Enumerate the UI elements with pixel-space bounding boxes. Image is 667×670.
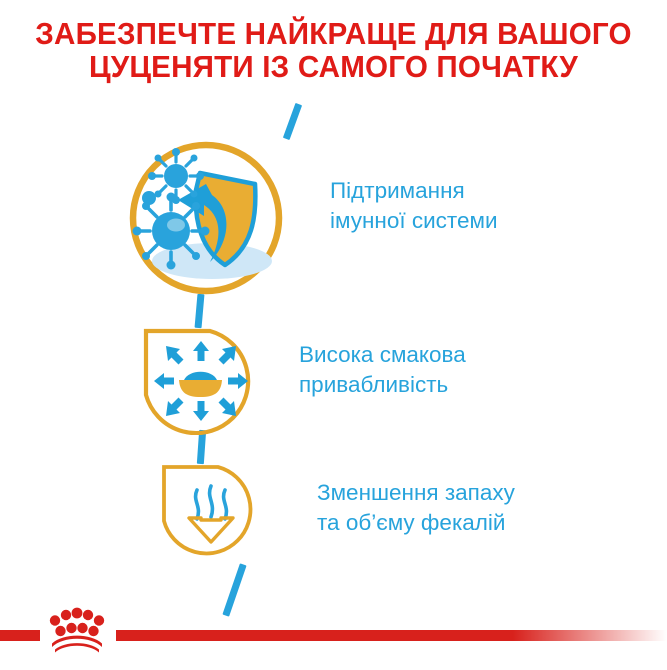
footer-bar-right-segment [116, 630, 667, 641]
connector-dash-feature1-feature2 [195, 294, 205, 328]
feature-2-line-1: Висока смакова [299, 340, 466, 370]
feature-3-line-2: та об’єму фекалій [317, 508, 515, 538]
odor-reduction-icon [159, 462, 263, 566]
feature-1-line-1: Підтримання [330, 176, 498, 206]
feature-label-odor-reduction: Зменшення запаху та об’єму фекалій [317, 478, 515, 538]
poster-root: ЗАБЕЗПЕЧТЕ НАЙКРАЩЕ ДЛЯ ВАШОГО ЦУЦЕНЯТИ … [0, 0, 667, 670]
food-bowl-arrows-icon [140, 325, 262, 435]
feature-3-line-1: Зменшення запаху [317, 478, 515, 508]
title-line-2: ЦУЦЕНЯТИ ІЗ САМОГО ПОЧАТКУ [10, 51, 657, 84]
connector-dash-feature3-footer [222, 563, 246, 616]
feature-label-immune-support: Підтримання імунної системи [330, 176, 498, 236]
immune-shield-icon [116, 138, 296, 298]
footer-bar-left-segment [0, 630, 40, 641]
page-title: ЗАБЕЗПЕЧТЕ НАЙКРАЩЕ ДЛЯ ВАШОГО ЦУЦЕНЯТИ … [0, 18, 667, 84]
royal-canin-crown-logo [44, 605, 110, 657]
connector-dash-top [283, 103, 302, 140]
title-line-1: ЗАБЕЗПЕЧТЕ НАЙКРАЩЕ ДЛЯ ВАШОГО [10, 18, 657, 51]
feature-label-palatability: Висока смакова привабливість [299, 340, 466, 400]
feature-2-line-2: привабливість [299, 370, 466, 400]
feature-1-line-2: імунної системи [330, 206, 498, 236]
